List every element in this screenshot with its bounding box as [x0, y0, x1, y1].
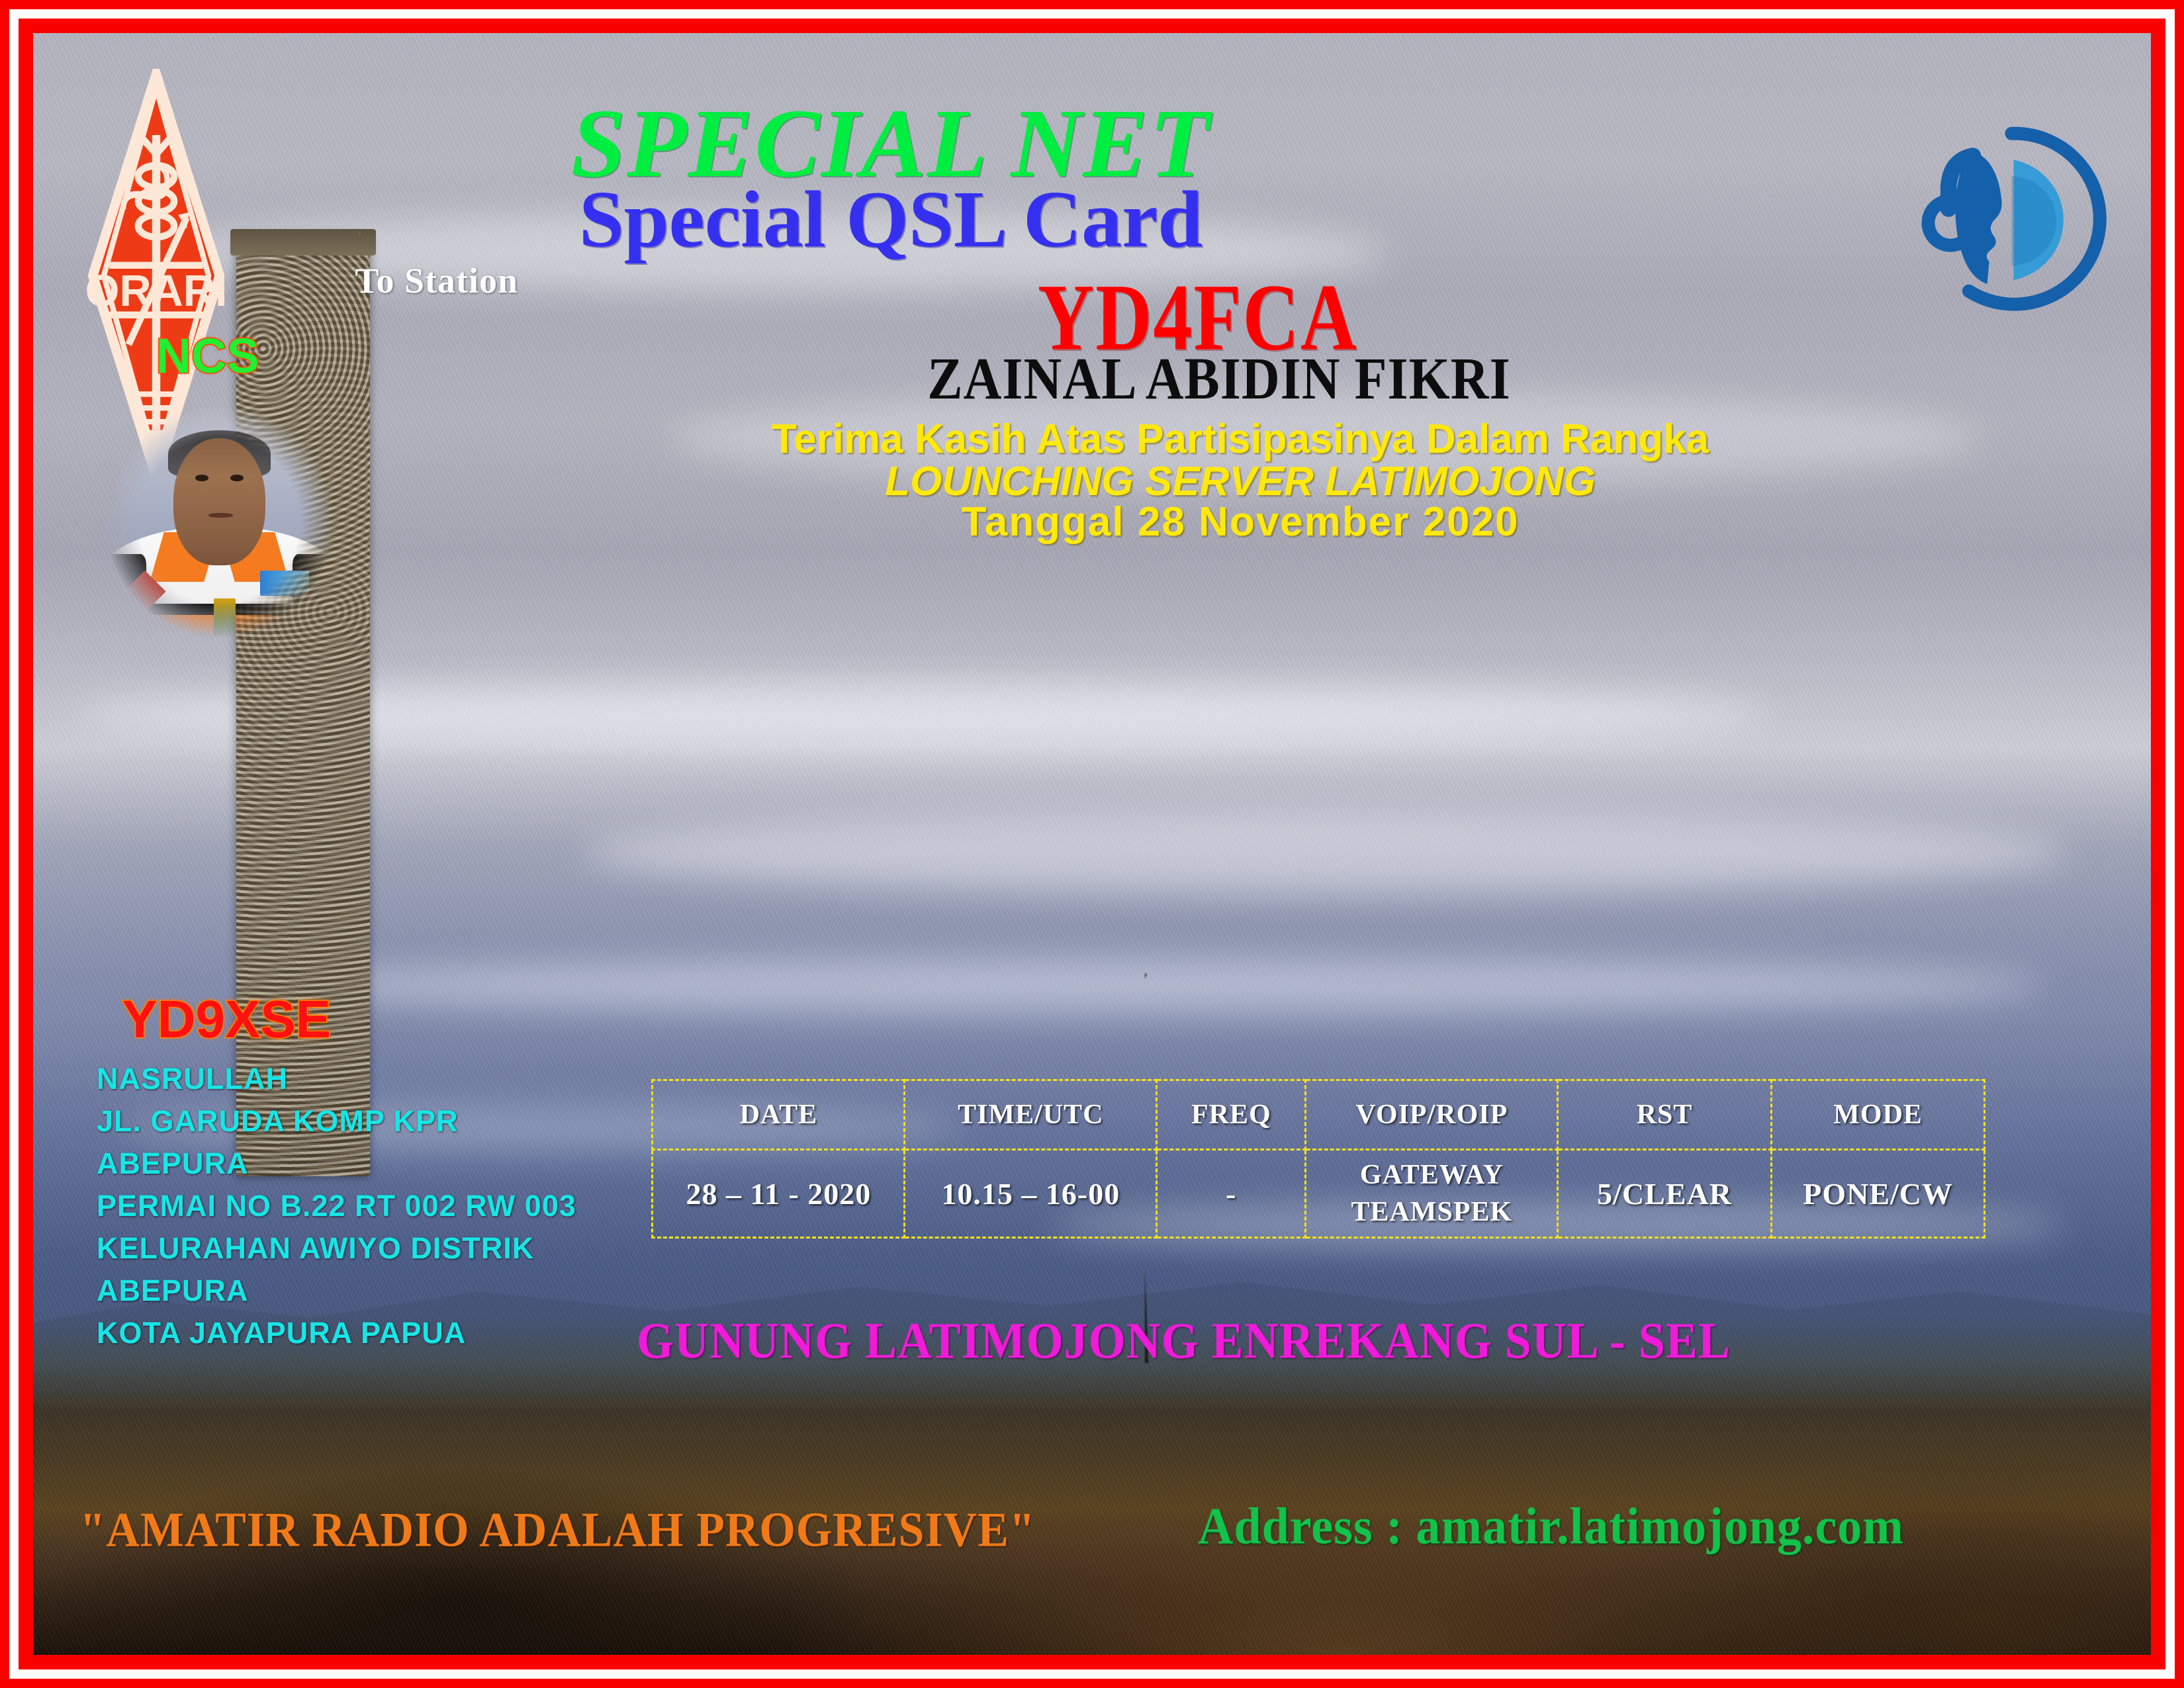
cell-rst: 5/CLEAR	[1558, 1150, 1772, 1238]
portrait-mouth	[208, 513, 233, 518]
portrait-eye-right	[230, 475, 244, 481]
portrait-eye-left	[195, 475, 208, 481]
cell-time: 10.15 – 16-00	[905, 1150, 1157, 1238]
address-line: KELURAHAN AWIYO DISTRIK	[97, 1227, 576, 1270]
column-header-time: TIME/UTC	[905, 1080, 1157, 1150]
cell-voip: GATEWAY TEAMSPEK	[1306, 1150, 1558, 1238]
portrait-id-lanyard	[214, 598, 236, 637]
column-header-rst: RST	[1558, 1080, 1772, 1150]
address-line: ABEPURA	[97, 1270, 576, 1312]
content-layer: ORARI	[33, 33, 2151, 1655]
column-header-freq: FREQ	[1157, 1080, 1306, 1150]
column-header-date: DATE	[653, 1080, 905, 1150]
event-launch-line: LOUNCHING SERVER LATIMOJONG	[711, 461, 1770, 502]
to-station-label: To Station	[355, 260, 518, 301]
page-subtitle: Special QSL Card	[255, 179, 1526, 260]
avatar	[84, 383, 355, 659]
ncs-label: NCS	[156, 332, 259, 381]
footer-website-address: Address : amatir.latimojong.com	[1198, 1501, 1904, 1552]
portrait-face	[173, 438, 265, 565]
qsl-card-inner-red-frame: ORARI	[19, 19, 2165, 1669]
address-line: KOTA JAYAPURA PAPUA	[97, 1312, 576, 1354]
qsl-card-outer-frame: ORARI	[0, 0, 2184, 1688]
recipient-operator-name: ZAINAL ABIDIN FIKRI	[732, 350, 1706, 409]
ncs-callsign: YD9XSE	[122, 993, 331, 1046]
address-line: ABEPURA	[97, 1143, 576, 1185]
cell-voip-line2: TEAMSPEK	[1309, 1194, 1554, 1231]
address-line: NASRULLAH	[97, 1058, 576, 1100]
column-header-voip: VOIP/ROIP	[1306, 1080, 1558, 1150]
table-header-row: DATE TIME/UTC FREQ VOIP/ROIP RST MODE	[653, 1080, 1985, 1150]
qsl-card-white-frame: ORARI	[9, 9, 2175, 1679]
orari-wordmark: ORARI	[85, 267, 227, 316]
cell-freq: -	[1157, 1150, 1306, 1238]
footer-slogan: "AMATIR RADIO ADALAH PROGRESIVE"	[79, 1506, 1035, 1555]
qso-log-table: DATE TIME/UTC FREQ VOIP/ROIP RST MODE 28…	[651, 1079, 1985, 1239]
cell-date: 28 – 11 - 2020	[653, 1150, 905, 1238]
operator-portrait	[84, 383, 355, 659]
address-line: PERMAI NO B.22 RT 002 RW 003	[97, 1185, 576, 1227]
voip-headset-logo	[1914, 67, 2117, 367]
sender-address-block: NASRULLAH JL. GARUDA KOMP KPR ABEPURA PE…	[97, 1058, 576, 1354]
cell-voip-line1: GATEWAY	[1309, 1156, 1554, 1194]
background-photograph: ORARI	[33, 33, 2151, 1655]
table-row: 28 – 11 - 2020 10.15 – 16-00 - GATEWAY T…	[653, 1150, 1985, 1238]
address-line: JL. GARUDA KOMP KPR	[97, 1100, 576, 1143]
column-header-mode: MODE	[1771, 1080, 1985, 1150]
location-line: GUNUNG LATIMOJONG ENREKANG SUL - SEL	[637, 1315, 1731, 1366]
portrait-chest-patch	[260, 571, 309, 595]
event-date-line: Tanggal 28 November 2020	[711, 502, 1770, 543]
cell-mode: PONE/CW	[1771, 1150, 1985, 1238]
thanks-line: Terima Kasih Atas Partisipasinya Dalam R…	[711, 419, 1770, 460]
